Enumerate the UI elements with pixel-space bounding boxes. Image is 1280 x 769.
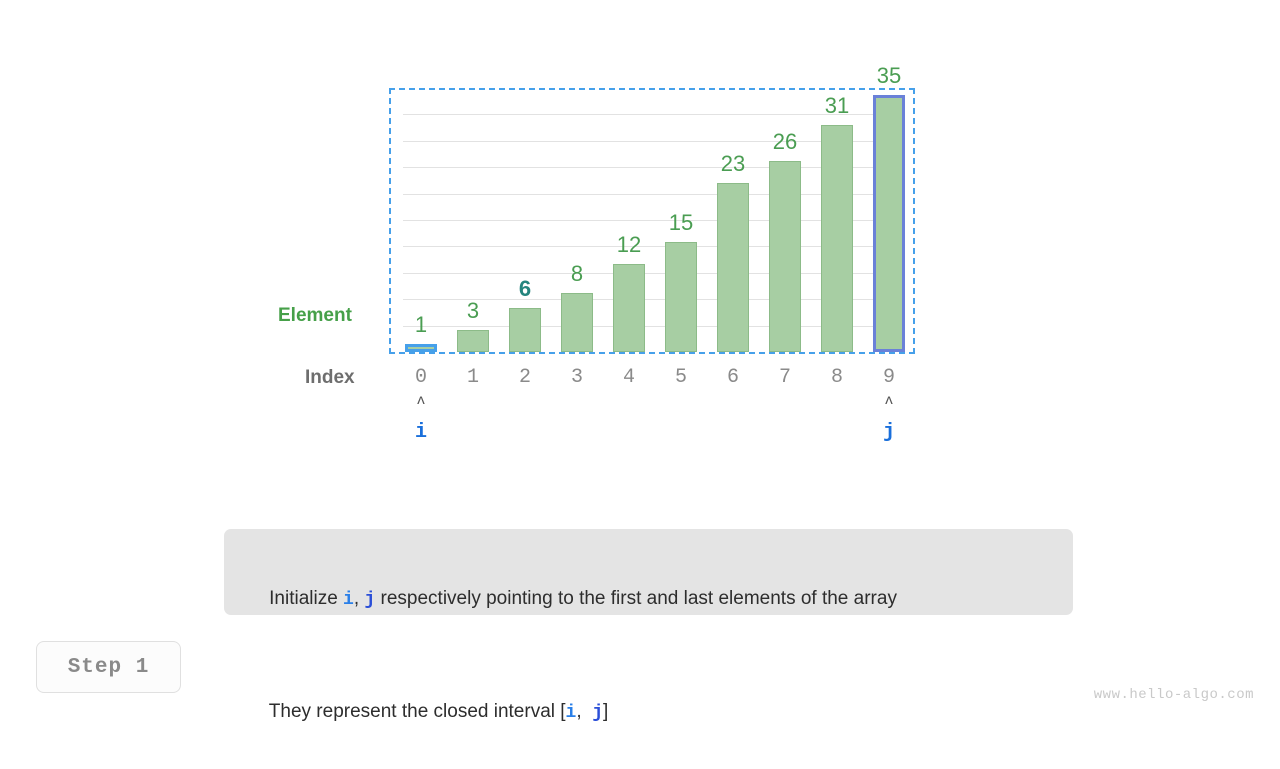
index-tick-0: 0 bbox=[395, 366, 447, 389]
pointer-label-i: i bbox=[395, 423, 447, 443]
caption-line-2: They represent the closed interval [i, j… bbox=[248, 656, 1049, 769]
bar-plot: 1368121523263135 bbox=[395, 88, 909, 352]
bar-slot: 35 bbox=[863, 88, 915, 352]
caption-line1-pointer-j: j bbox=[364, 590, 375, 610]
caption-line2-mid: , bbox=[576, 701, 592, 722]
bar-value-label: 35 bbox=[863, 63, 915, 89]
bar-slot: 3 bbox=[447, 88, 499, 352]
pointer-j: ʌj bbox=[863, 394, 915, 443]
caret-icon: ʌ bbox=[863, 394, 915, 408]
bar-slot: 6 bbox=[499, 88, 551, 352]
pointer-i: ʌi bbox=[395, 394, 447, 443]
bar[interactable] bbox=[561, 293, 593, 352]
bar-value-label: 6 bbox=[499, 276, 551, 302]
bar[interactable] bbox=[509, 308, 541, 352]
index-tick-3: 3 bbox=[551, 366, 603, 389]
caption-line1-pre: Initialize bbox=[269, 588, 343, 609]
index-axis-label: Index bbox=[305, 367, 355, 389]
step-badge: Step 1 bbox=[36, 641, 181, 693]
index-tick-8: 8 bbox=[811, 366, 863, 389]
bar-value-label: 15 bbox=[655, 210, 707, 236]
index-tick-row: 0123456789 bbox=[395, 366, 909, 396]
caret-icon: ʌ bbox=[395, 394, 447, 408]
chart-area: Element Index 1368121523263135 012345678… bbox=[0, 0, 1280, 470]
bar-slot: 1 bbox=[395, 88, 447, 352]
caption-line2-pointer-i: i bbox=[566, 703, 577, 723]
bar-value-label: 23 bbox=[707, 151, 759, 177]
index-tick-4: 4 bbox=[603, 366, 655, 389]
bar[interactable] bbox=[821, 125, 853, 352]
bar-value-label: 3 bbox=[447, 298, 499, 324]
caption-box: Initialize i, j respectively pointing to… bbox=[224, 529, 1073, 615]
bar-slot: 12 bbox=[603, 88, 655, 352]
pointer-label-j: j bbox=[863, 423, 915, 443]
bar-slot: 8 bbox=[551, 88, 603, 352]
pointer-row: ʌiʌj bbox=[395, 394, 909, 454]
bar-value-label: 12 bbox=[603, 232, 655, 258]
caption-line1-mid: , bbox=[354, 588, 365, 609]
index-tick-1: 1 bbox=[447, 366, 499, 389]
bar-value-label: 31 bbox=[811, 93, 863, 119]
bar[interactable] bbox=[873, 95, 905, 352]
bar[interactable] bbox=[717, 183, 749, 352]
bar-value-label: 26 bbox=[759, 129, 811, 155]
bar-slot: 26 bbox=[759, 88, 811, 352]
bar[interactable] bbox=[769, 161, 801, 352]
step-badge-label: Step 1 bbox=[68, 656, 150, 679]
caption-line2-pre: They represent the closed interval [ bbox=[269, 701, 566, 722]
index-tick-2: 2 bbox=[499, 366, 551, 389]
caption-line1-pointer-i: i bbox=[343, 590, 354, 610]
bar[interactable] bbox=[665, 242, 697, 352]
index-tick-9: 9 bbox=[863, 366, 915, 389]
watermark: www.hello-algo.com bbox=[1094, 687, 1254, 703]
bar-slot: 23 bbox=[707, 88, 759, 352]
bar-value-label: 1 bbox=[395, 312, 447, 338]
caption-line1-post: respectively pointing to the first and l… bbox=[375, 588, 897, 609]
bar-slot: 15 bbox=[655, 88, 707, 352]
caption-line-1: Initialize i, j respectively pointing to… bbox=[248, 543, 1049, 656]
bar-slot: 31 bbox=[811, 88, 863, 352]
caption-line2-pointer-j: j bbox=[592, 703, 603, 723]
bar-value-label: 8 bbox=[551, 261, 603, 287]
index-tick-5: 5 bbox=[655, 366, 707, 389]
bar[interactable] bbox=[457, 330, 489, 352]
index-tick-6: 6 bbox=[707, 366, 759, 389]
caption-line2-post: ] bbox=[603, 701, 608, 722]
bar[interactable] bbox=[405, 344, 437, 352]
element-axis-label: Element bbox=[278, 305, 352, 327]
bar[interactable] bbox=[613, 264, 645, 352]
index-tick-7: 7 bbox=[759, 366, 811, 389]
